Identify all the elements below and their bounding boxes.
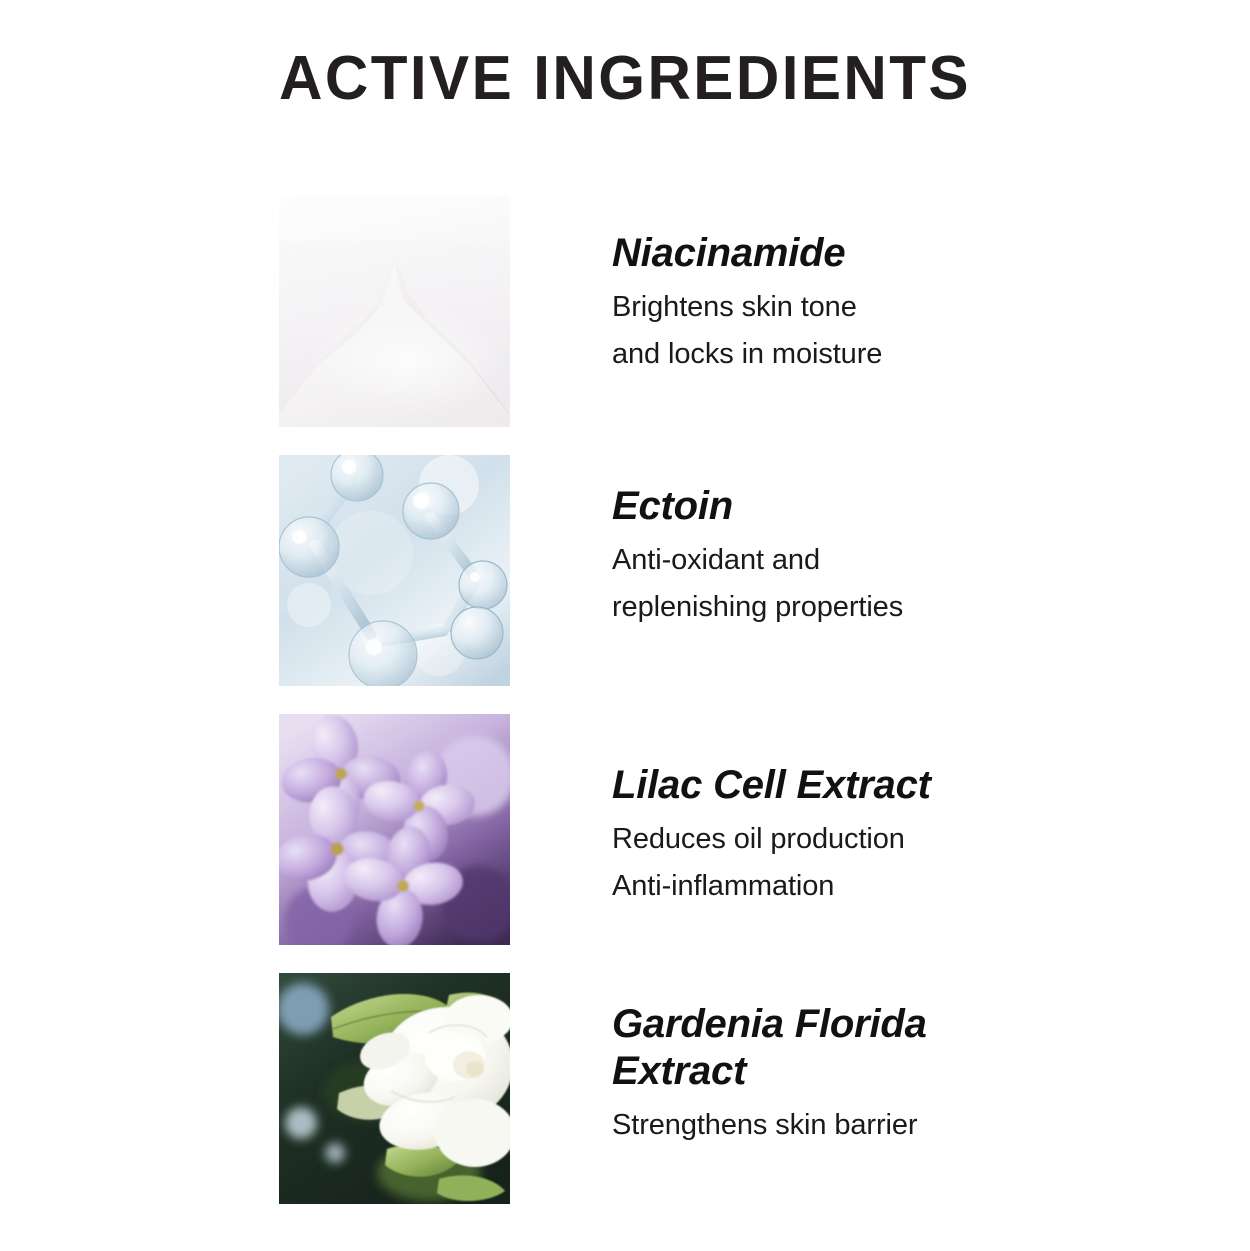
ingredient-name: Gardenia Florida Extract	[612, 1001, 1032, 1095]
ingredient-copy: Gardenia Florida Extract Strengthens ski…	[612, 1001, 1032, 1149]
ingredient-description: Brightens skin tone and locks in moistur…	[612, 284, 1032, 378]
ingredient-description: Anti-oxidant and replenishing properties	[612, 537, 1032, 631]
ingredient-name: Niacinamide	[612, 230, 1032, 277]
ingredient-list: Niacinamide Brightens skin tone and lock…	[279, 196, 1039, 1232]
ingredient-copy: Ectoin Anti-oxidant and replenishing pro…	[612, 483, 1032, 631]
ingredient-description: Reduces oil production Anti-inflammation	[612, 816, 1032, 910]
ingredient-name: Lilac Cell Extract	[612, 762, 1032, 809]
list-item: Ectoin Anti-oxidant and replenishing pro…	[279, 455, 1039, 714]
list-item: Niacinamide Brightens skin tone and lock…	[279, 196, 1039, 455]
molecule-structure-photo	[279, 455, 510, 686]
gardenia-flower-photo	[279, 973, 510, 1204]
list-item: Lilac Cell Extract Reduces oil productio…	[279, 714, 1039, 973]
page-title: ACTIVE INGREDIENTS	[19, 46, 1232, 111]
active-ingredients-poster: ACTIVE INGREDIENTS	[0, 0, 1250, 1251]
ingredient-description: Strengthens skin barrier	[612, 1102, 1032, 1149]
list-item: Gardenia Florida Extract Strengthens ski…	[279, 973, 1039, 1232]
white-powder-mound-photo	[279, 196, 510, 427]
ingredient-copy: Niacinamide Brightens skin tone and lock…	[612, 230, 1032, 378]
ingredient-name: Ectoin	[612, 483, 1032, 530]
ingredient-copy: Lilac Cell Extract Reduces oil productio…	[612, 762, 1032, 910]
lilac-flowers-photo	[279, 714, 510, 945]
